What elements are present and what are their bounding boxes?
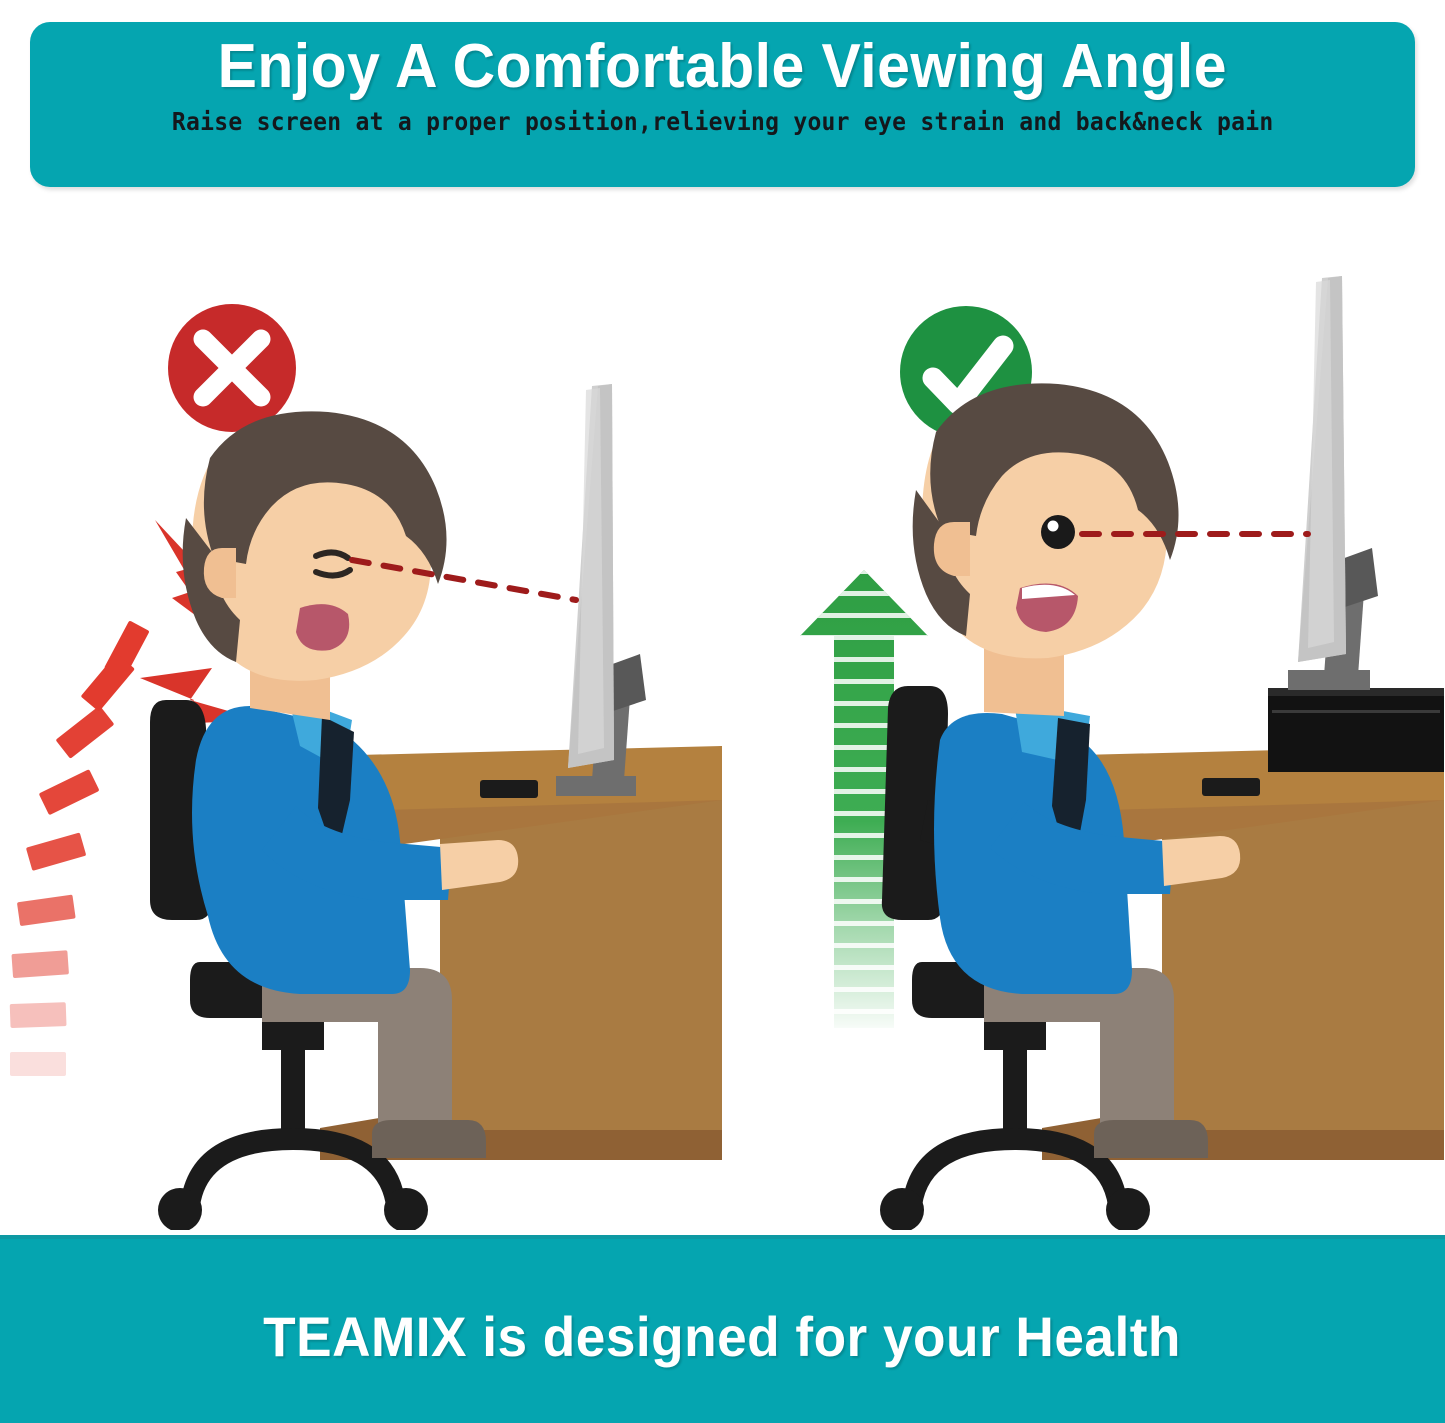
mouse (1202, 778, 1260, 796)
bad-posture-scene (0, 200, 722, 1230)
monitor-elevated (1288, 276, 1378, 690)
page-subtitle: Raise screen at a proper position,reliev… (172, 107, 1274, 136)
monitor-riser (1268, 688, 1444, 772)
bottom-banner: TEAMIX is designed for your Health (0, 1235, 1445, 1423)
page-title: Enjoy A Comfortable Viewing Angle (218, 34, 1227, 99)
mouse (480, 780, 538, 798)
pain-arc-icon (10, 620, 150, 1076)
brand-tagline: TEAMIX is designed for your Health (264, 1304, 1182, 1369)
good-posture-scene (722, 200, 1444, 1230)
infographic-page: Enjoy A Comfortable Viewing Angle Raise … (0, 0, 1445, 1423)
top-banner: Enjoy A Comfortable Viewing Angle Raise … (30, 22, 1415, 187)
monitor-low (556, 384, 646, 796)
cross-mark-icon (168, 304, 296, 432)
